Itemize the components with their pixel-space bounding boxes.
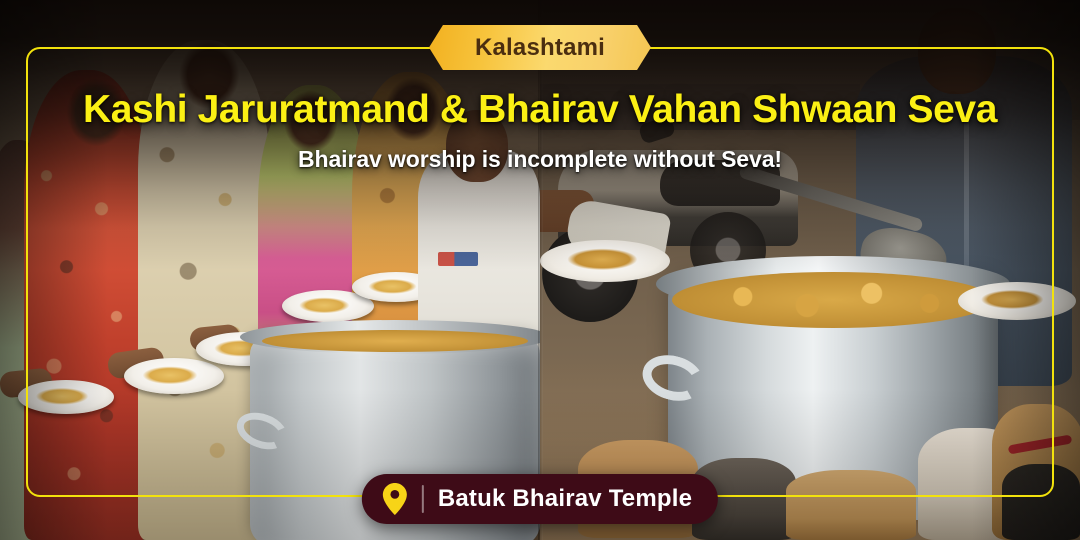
background-photo-collage [0, 0, 1080, 540]
shirt-logo [438, 252, 478, 266]
food-plate [18, 380, 114, 414]
sari-figure [24, 70, 149, 540]
photo-seam-divider [538, 0, 543, 540]
khichdi-in-pot [672, 272, 994, 328]
volunteer-head [918, 8, 996, 94]
photo-left-food-queue [0, 0, 540, 540]
kalashtami-ribbon-badge: Kalashtami [429, 25, 651, 70]
street-dog [786, 470, 916, 540]
location-badge: Batuk Bhairav Temple [362, 474, 718, 524]
poster-canvas: Kalashtami Kashi Jaruratmand & Bhairav V… [0, 0, 1080, 540]
page-subtitle: Bhairav worship is incomplete without Se… [0, 146, 1080, 173]
location-pin-icon [382, 482, 408, 516]
page-title: Kashi Jaruratmand & Bhairav Vahan Shwaan… [0, 88, 1080, 132]
pill-divider [422, 485, 424, 513]
photo-right-dog-seva [540, 0, 1080, 540]
location-name-label: Batuk Bhairav Temple [438, 485, 692, 513]
street-dog [1002, 464, 1080, 540]
food-plate [124, 358, 224, 394]
food-plate [540, 240, 670, 282]
food-plate [958, 282, 1076, 320]
